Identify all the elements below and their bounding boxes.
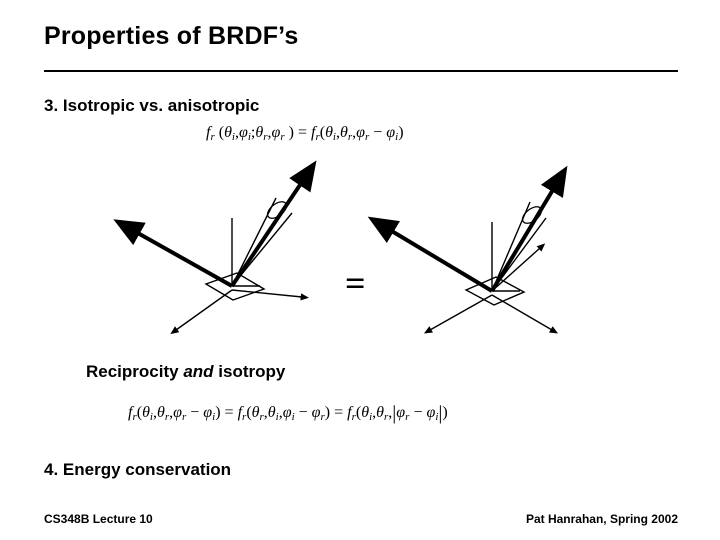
section-heading-4: 4. Energy conservation bbox=[44, 460, 231, 480]
caption-part-1: Reciprocity bbox=[86, 362, 183, 381]
footer-author: Pat Hanrahan, Spring 2002 bbox=[526, 512, 678, 526]
right-brdf-geometry bbox=[390, 188, 554, 330]
slide-root: Properties of BRDF’s 3. Isotropic vs. an… bbox=[0, 0, 720, 540]
equals-symbol: = bbox=[345, 262, 366, 304]
left-brdf-geometry bbox=[136, 182, 302, 330]
footer-course: CS348B Lecture 10 bbox=[44, 512, 153, 526]
caption-part-italic: and bbox=[183, 362, 213, 381]
equation-reciprocity: fr(θi,θr,φr − φi) = fr(θr,θi,φi − φr) = … bbox=[128, 402, 448, 425]
caption-part-2: isotropy bbox=[214, 362, 286, 381]
diagram-caption: Reciprocity and isotropy bbox=[86, 362, 285, 382]
